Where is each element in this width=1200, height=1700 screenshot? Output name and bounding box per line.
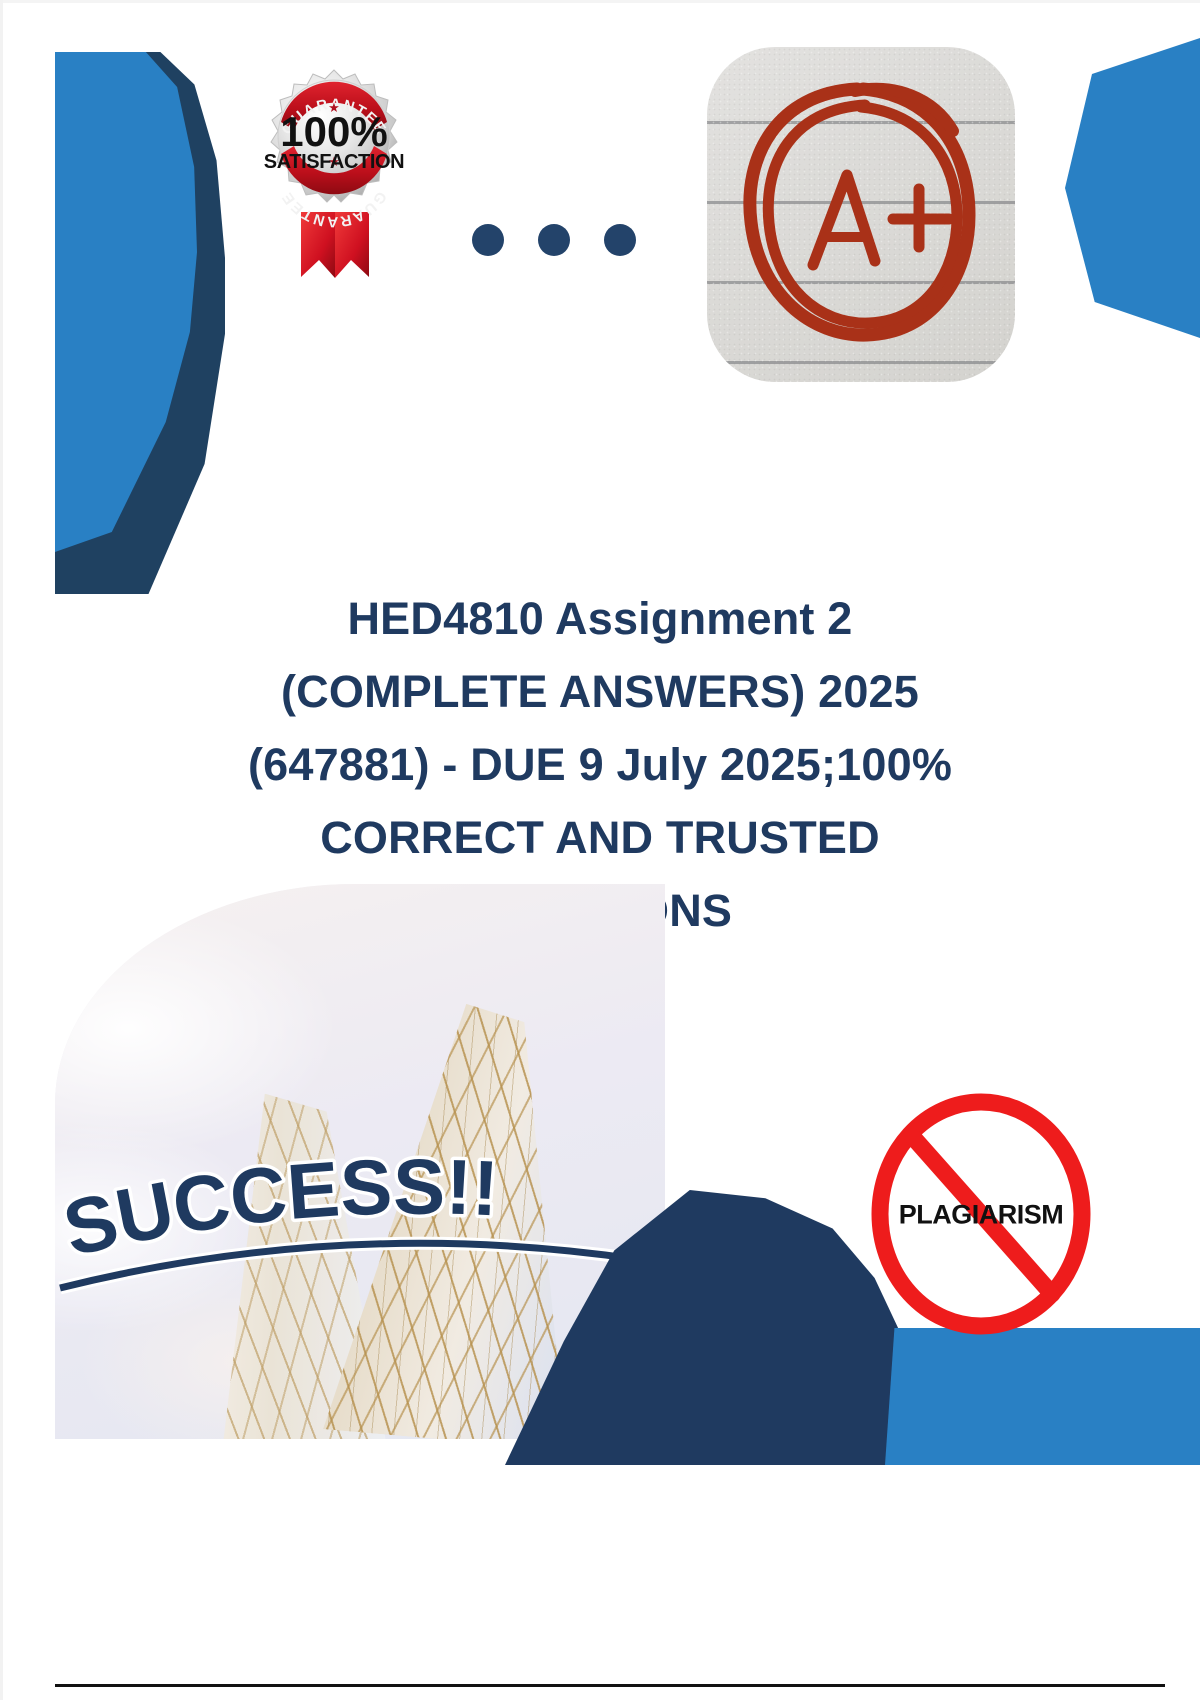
- a-plus-grade-image: [707, 47, 1015, 382]
- title-line-3: (647881) - DUE 9 July 2025;100%: [60, 728, 1140, 801]
- title-line-4: CORRECT AND TRUSTED: [60, 801, 1140, 874]
- plagiarism-label: PLAGIARISM: [866, 1199, 1096, 1230]
- page-top-border: [0, 0, 1200, 3]
- no-plagiarism-icon: PLAGIARISM: [866, 1092, 1096, 1337]
- decor-d-shape: [55, 52, 225, 594]
- decor-blue-rectangle: [885, 1328, 1200, 1465]
- satisfaction-guarantee-badge-icon: GUARANTEE GUARANTEE ★ ★ 100% SATISFACTIO…: [243, 62, 425, 296]
- decor-dot: [538, 224, 570, 256]
- decor-dot: [472, 224, 504, 256]
- svg-text:SATISFACTION: SATISFACTION: [264, 151, 404, 173]
- title-line-2: (COMPLETE ANSWERS) 2025: [60, 655, 1140, 728]
- svg-text:100%: 100%: [280, 108, 387, 155]
- title-line-1: HED4810 Assignment 2: [60, 582, 1140, 655]
- bottom-divider: [55, 1684, 1165, 1687]
- page-left-border: [0, 0, 3, 1700]
- decor-dot: [604, 224, 636, 256]
- poster-page: GUARANTEE GUARANTEE ★ ★ 100% SATISFACTIO…: [0, 0, 1200, 1700]
- decor-leaf-shape: [1065, 38, 1200, 338]
- success-banner: SUCCESS!!: [38, 1130, 658, 1310]
- decor-dots-group: [470, 222, 645, 262]
